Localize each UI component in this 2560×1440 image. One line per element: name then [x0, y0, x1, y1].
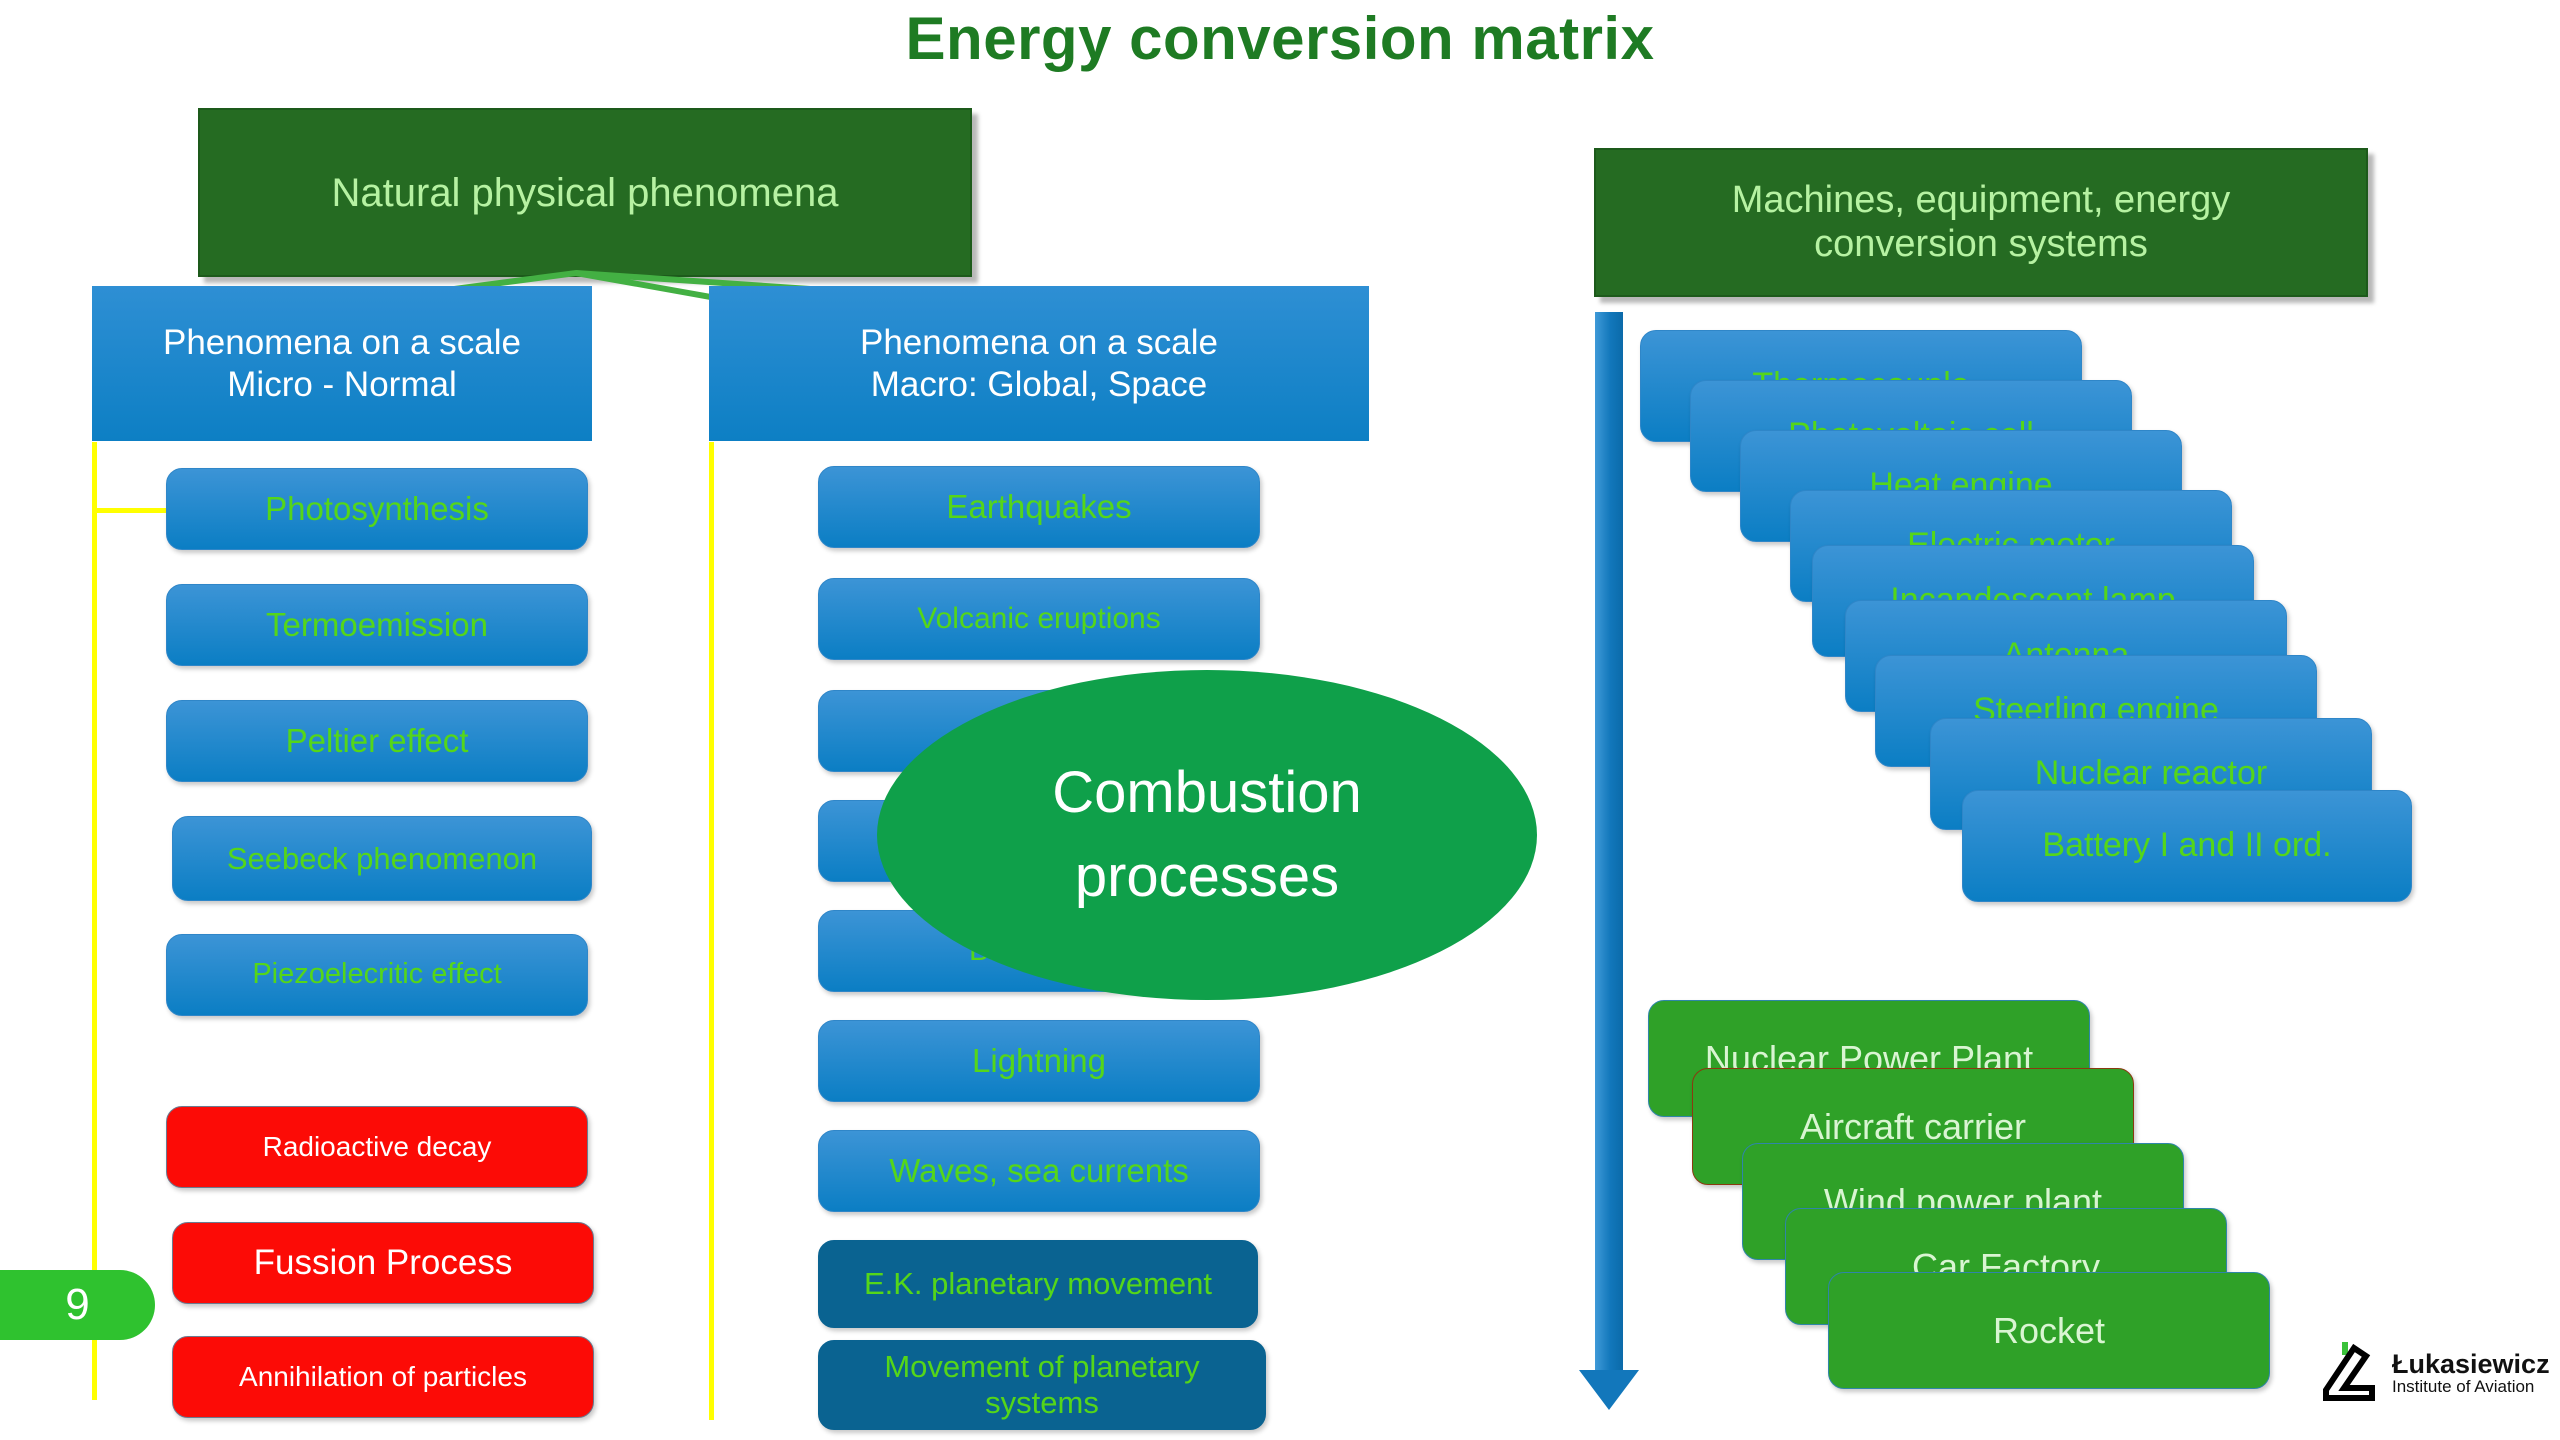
system-card-label: Rocket	[1993, 1310, 2105, 1351]
natural-phenomena-header: Natural physical phenomena	[198, 108, 972, 277]
list-item[interactable]: Earthquakes	[818, 466, 1260, 548]
list-item[interactable]: Fussion Process	[172, 1222, 594, 1304]
machines-header-line1: Machines, equipment, energy	[1732, 179, 2231, 223]
column-head-macro-line1: Phenomena on a scale	[860, 322, 1218, 364]
machine-card[interactable]: Battery I and II ord.	[1962, 790, 2412, 902]
list-item-label: Movement of planetary systems	[833, 1349, 1251, 1420]
list-item-label: Lightning	[972, 1042, 1106, 1080]
list-item[interactable]: Seebeck phenomenon	[172, 816, 592, 901]
slide-number-badge: 9	[0, 1270, 155, 1340]
flow-arrow-head	[1579, 1370, 1639, 1410]
list-item[interactable]: Lightning	[818, 1020, 1260, 1102]
logo-name: Łukasiewicz	[2392, 1350, 2550, 1378]
list-item-label: E.K. planetary movement	[864, 1266, 1212, 1302]
lukasiewicz-logo-icon	[2320, 1342, 2382, 1404]
natural-phenomena-header-label: Natural physical phenomena	[332, 170, 839, 216]
column-head-macro-line2: Macro: Global, Space	[871, 364, 1208, 406]
list-item-label: Termoemission	[266, 606, 488, 644]
list-item-label: Waves, sea currents	[889, 1152, 1189, 1190]
combustion-label-line2: processes	[1075, 835, 1339, 919]
micro-connector-branch	[92, 508, 170, 513]
column-head-micro-line2: Micro - Normal	[227, 364, 456, 406]
list-item-label: Photosynthesis	[265, 490, 489, 528]
list-item[interactable]: Movement of planetary systems	[818, 1340, 1266, 1430]
page-title: Energy conversion matrix	[0, 4, 2560, 73]
column-head-micro: Phenomena on a scale Micro - Normal	[92, 286, 592, 441]
list-item[interactable]: Photosynthesis	[166, 468, 588, 550]
micro-connector-vertical	[92, 442, 97, 1400]
macro-connector-vertical	[709, 442, 714, 1420]
list-item[interactable]: Termoemission	[166, 584, 588, 666]
logo-text: Łukasiewicz Institute of Aviation	[2392, 1350, 2550, 1396]
machine-card-label: Nuclear reactor	[2035, 754, 2267, 793]
list-item[interactable]: Piezoelecritic effect	[166, 934, 588, 1016]
machine-card-label: Battery I and II ord.	[2042, 826, 2331, 865]
logo: Łukasiewicz Institute of Aviation	[2320, 1342, 2550, 1404]
list-item-label: Annihilation of particles	[239, 1361, 527, 1393]
flow-arrow-shaft	[1595, 312, 1623, 1372]
list-item-label: Peltier effect	[286, 722, 469, 760]
column-head-micro-line1: Phenomena on a scale	[163, 322, 521, 364]
list-item-label: Fussion Process	[254, 1243, 513, 1283]
list-item[interactable]: E.K. planetary movement	[818, 1240, 1258, 1328]
machines-header-line2: conversion systems	[1814, 223, 2148, 267]
combustion-processes-callout[interactable]: Combustion processes	[877, 670, 1537, 1000]
list-item[interactable]: Peltier effect	[166, 700, 588, 782]
combustion-label-line1: Combustion	[1052, 751, 1361, 835]
list-item-label: Seebeck phenomenon	[227, 841, 537, 877]
column-head-macro: Phenomena on a scale Macro: Global, Spac…	[709, 286, 1369, 441]
list-item[interactable]: Waves, sea currents	[818, 1130, 1260, 1212]
list-item-label: Piezoelecritic effect	[252, 958, 501, 991]
slide-number-label: 9	[65, 1280, 89, 1330]
list-item-label: Earthquakes	[946, 488, 1131, 526]
system-card-label: Aircraft carrier	[1800, 1106, 2026, 1147]
list-item-label: Volcanic eruptions	[917, 602, 1161, 637]
logo-subtitle: Institute of Aviation	[2392, 1378, 2550, 1396]
list-item[interactable]: Volcanic eruptions	[818, 578, 1260, 660]
list-item-label: Radioactive decay	[263, 1131, 492, 1163]
list-item[interactable]: Annihilation of particles	[172, 1336, 594, 1418]
list-item[interactable]: Radioactive decay	[166, 1106, 588, 1188]
machines-header: Machines, equipment, energy conversion s…	[1594, 148, 2368, 297]
system-card[interactable]: Rocket	[1828, 1272, 2270, 1389]
